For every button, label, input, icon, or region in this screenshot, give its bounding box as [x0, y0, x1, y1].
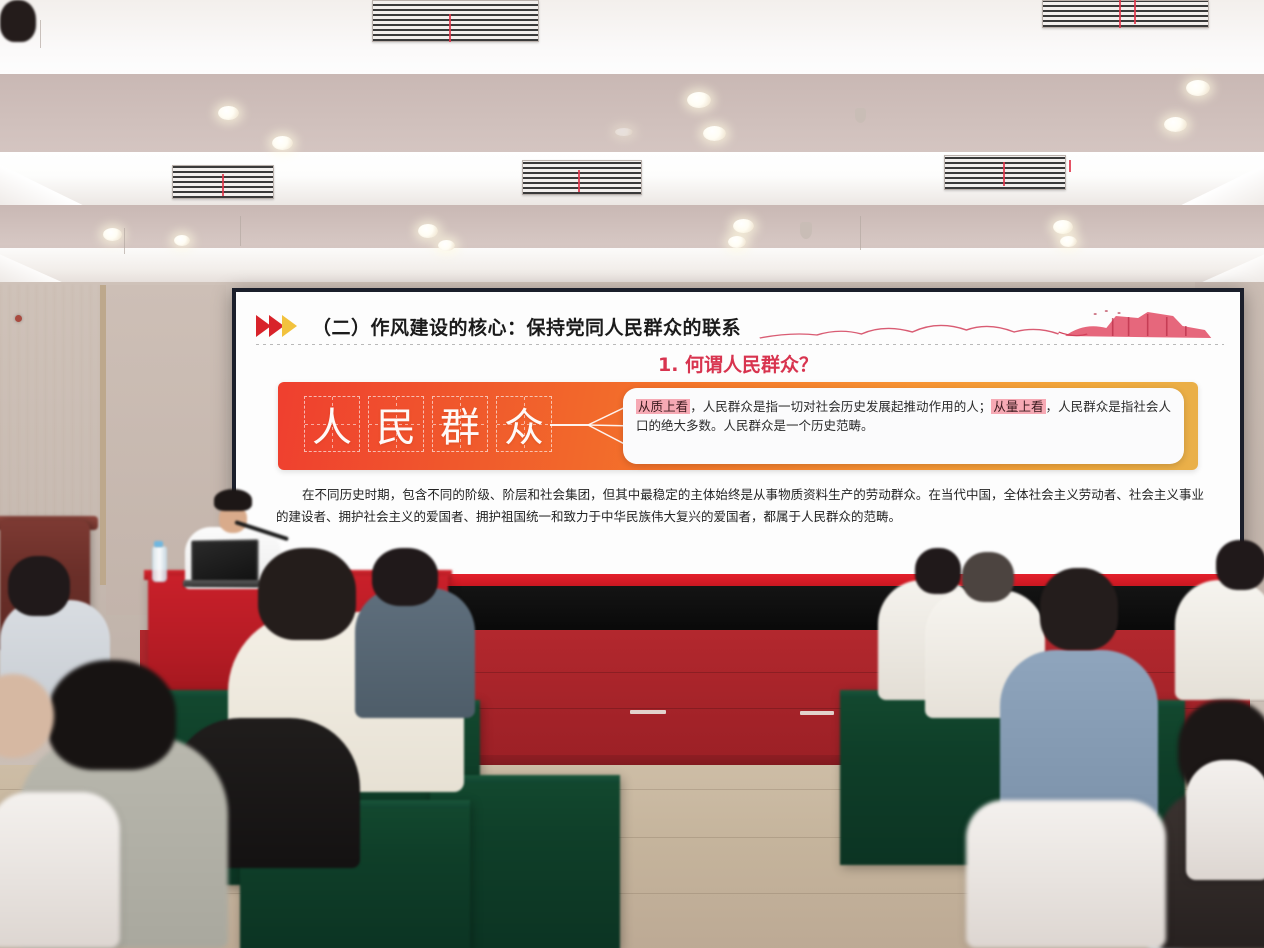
projection-screen-frame: （二）作风建设的核心：保持党同人民群众的联系 1. 何谓人民群众？	[232, 288, 1244, 580]
recessed-downlight	[174, 235, 190, 246]
banner-character-cell: 人	[304, 396, 360, 452]
water-bottle	[152, 546, 167, 582]
hvac-vent-grille	[1042, 0, 1209, 28]
chair-back-cover	[1186, 760, 1264, 880]
vent-marking	[1003, 162, 1005, 186]
recessed-downlight	[418, 224, 438, 238]
stage-floor-marker	[800, 711, 834, 715]
recessed-downlight	[1053, 220, 1073, 234]
audience-member-body	[355, 588, 475, 718]
banner-character: 众	[496, 396, 552, 452]
conference-hall-photo: （二）作风建设的核心：保持党同人民群众的联系 1. 何谓人民群众？	[0, 0, 1264, 948]
recessed-downlight	[1060, 236, 1077, 247]
hvac-vent-grille	[522, 160, 642, 195]
recessed-downlight	[615, 128, 633, 136]
audience-member-head	[915, 548, 961, 594]
callout-text: 从质上看，人民群众是指一切对社会历史发展起推动作用的人；从量上看，人民群众是指社…	[636, 397, 1171, 436]
hvac-vent-grille	[944, 155, 1066, 190]
recessed-downlight	[438, 240, 455, 251]
vent-marking	[1134, 0, 1136, 24]
banner-character-cell: 民	[368, 396, 424, 452]
audience-member-body	[1175, 580, 1264, 700]
audience-member-head	[1216, 540, 1264, 590]
callout-highlight-quality: 从质上看	[636, 399, 690, 414]
laptop-base	[183, 580, 261, 587]
recessed-downlight	[1164, 117, 1187, 132]
audience-member-head	[258, 548, 356, 640]
banner-character-cell: 群	[432, 396, 488, 452]
banner-character-group: 人 民 群 众	[304, 396, 552, 452]
double-chevron-icon	[256, 315, 300, 337]
audience-member-head	[1040, 568, 1118, 650]
ceiling-speaker	[855, 108, 866, 123]
recessed-downlight	[103, 228, 122, 241]
slide-banner: 人 民 群 众	[278, 382, 1198, 470]
recessed-downlight	[728, 236, 746, 248]
recessed-downlight	[687, 92, 711, 108]
audience-member-body	[1000, 650, 1158, 820]
vent-marking	[1069, 160, 1071, 172]
recessed-downlight	[1186, 80, 1210, 96]
recessed-downlight	[703, 126, 726, 141]
ceiling-wire	[240, 216, 241, 246]
recessed-downlight	[733, 219, 754, 233]
slide-title-row: （二）作风建设的核心：保持党同人民群众的联系	[256, 306, 1224, 346]
wall-sensor-dot	[15, 315, 22, 322]
callout-text-part1: ，人民群众是指一切对社会历史发展起推动作用的人；	[690, 399, 991, 414]
ceiling-speaker	[800, 222, 812, 239]
recessed-downlight	[272, 136, 293, 150]
audience-member-head	[8, 556, 70, 616]
banner-character: 人	[304, 396, 360, 452]
banner-character-cell: 众	[496, 396, 552, 452]
hvac-vent-grille	[372, 0, 539, 42]
callout-box: 从质上看，人民群众是指一切对社会历史发展起推动作用的人；从量上看，人民群众是指社…	[623, 388, 1184, 464]
callout-highlight-quantity: 从量上看	[991, 399, 1045, 414]
audience-member-head	[48, 660, 176, 770]
slide-body-text: 在不同历史时期，包含不同的阶级、阶层和社会集团，但其中最稳定的主体始终是从事物质…	[276, 484, 1204, 527]
title-divider	[256, 344, 1224, 345]
vent-marking	[1119, 0, 1121, 28]
vent-marking	[578, 170, 580, 192]
chair-back-cover	[0, 792, 120, 948]
speaker-head	[0, 0, 36, 42]
bottle-cap	[154, 541, 163, 547]
slide-title: （二）作风建设的核心：保持党同人民群众的联系	[312, 313, 741, 340]
ceiling-wire	[124, 228, 125, 254]
vent-marking	[449, 14, 451, 42]
banner-character: 民	[368, 396, 424, 452]
ceiling-wire	[860, 216, 861, 250]
audience-member-head	[372, 548, 438, 606]
stage-floor-marker	[630, 710, 666, 714]
speaker-hair	[214, 489, 252, 511]
projection-screen: （二）作风建设的核心：保持党同人民群众的联系 1. 何谓人民群众？	[236, 292, 1240, 576]
slide-subtitle: 1. 何谓人民群众？	[236, 350, 1240, 377]
vent-marking	[222, 174, 224, 196]
chair-back-cover	[966, 800, 1166, 948]
ceiling-wire	[40, 20, 41, 48]
recessed-downlight	[218, 106, 239, 120]
banner-character: 群	[432, 396, 488, 452]
audience-member-head	[962, 552, 1014, 602]
great-wall-decoration-icon	[747, 308, 1224, 344]
